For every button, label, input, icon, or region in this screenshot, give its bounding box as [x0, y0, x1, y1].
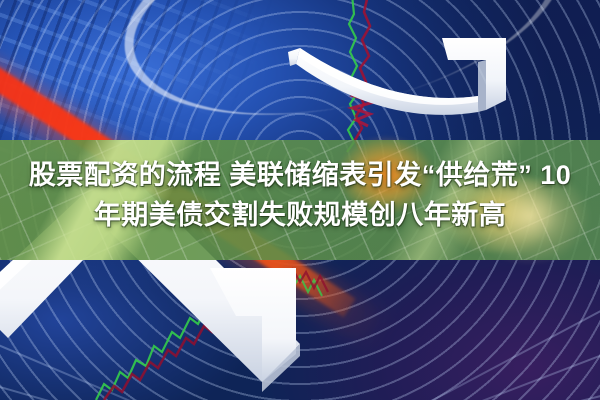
headline-line-2: 年期美债交割失败规模创八年新高 — [0, 195, 600, 235]
banner-image: 股票配资的流程 美联储缩表引发“供给荒” 10 年期美债交割失败规模创八年新高 — [0, 0, 600, 400]
headline-line-1: 股票配资的流程 美联储缩表引发“供给荒” 10 — [0, 155, 600, 195]
arrow-top-head-shadow — [478, 60, 486, 112]
headline: 股票配资的流程 美联储缩表引发“供给荒” 10 年期美债交割失败规模创八年新高 — [0, 155, 600, 235]
